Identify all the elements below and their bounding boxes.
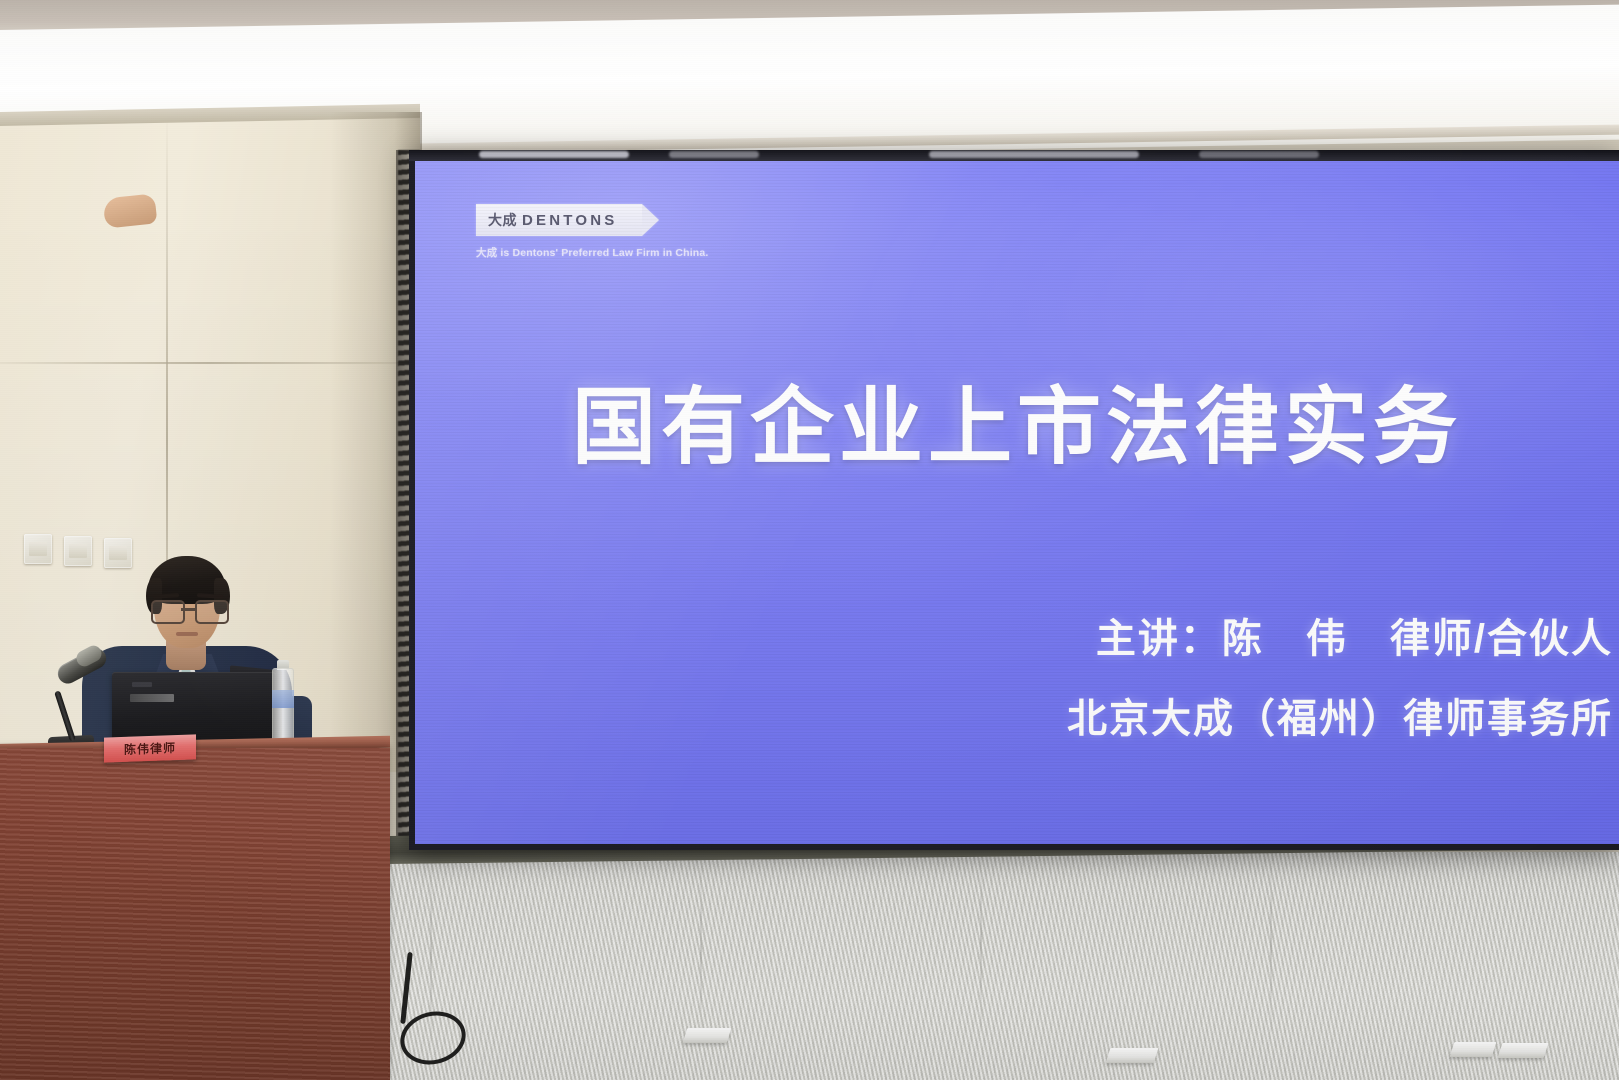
podium-front-panel bbox=[0, 748, 390, 1080]
dentons-logo-badge: 大成 DENTONS bbox=[476, 204, 642, 236]
nameplate-text: 陈伟律师 bbox=[124, 739, 176, 758]
slide-title: 国有企业上市法律实务 bbox=[415, 360, 1619, 481]
laptop-hinge-notch bbox=[132, 682, 152, 687]
dentons-wordmark: DENTONS bbox=[522, 213, 617, 228]
dentons-logo-lockup: 大成 DENTONS 大成 is Dentons' Preferred Law … bbox=[476, 204, 708, 260]
dentons-chinese-mark: 大成 bbox=[488, 213, 517, 227]
eyeglasses bbox=[150, 600, 226, 620]
screen-top-bezel bbox=[409, 150, 1619, 161]
floor-outlet-cover-1 bbox=[683, 1028, 732, 1043]
lens-left bbox=[151, 600, 185, 624]
light-switch-2[interactable] bbox=[64, 536, 92, 566]
slide-firm-line: 北京大成（福州）律师事务所 bbox=[415, 686, 1619, 744]
dentons-tagline: 大成 is Dentons' Preferred Law Firm in Chi… bbox=[476, 245, 708, 260]
glasses-bridge bbox=[181, 608, 195, 611]
floor-outlet-cover-4 bbox=[1498, 1043, 1549, 1058]
bottle-label bbox=[272, 690, 294, 708]
light-switch-1[interactable] bbox=[24, 534, 52, 564]
floor-outlet-cover-2 bbox=[1106, 1048, 1159, 1063]
speaker-nameplate: 陈伟律师 bbox=[104, 734, 196, 762]
mouth bbox=[176, 632, 198, 636]
slide-presenter-line: 主讲：陈 伟 律师/合伙人 bbox=[415, 606, 1619, 664]
screenshot-root: 大成 DENTONS 大成 is Dentons' Preferred Law … bbox=[0, 0, 1619, 1080]
laptop-brand-logo bbox=[130, 694, 174, 702]
floor-outlet-cover-3 bbox=[1450, 1042, 1497, 1057]
lens-right bbox=[195, 600, 229, 624]
